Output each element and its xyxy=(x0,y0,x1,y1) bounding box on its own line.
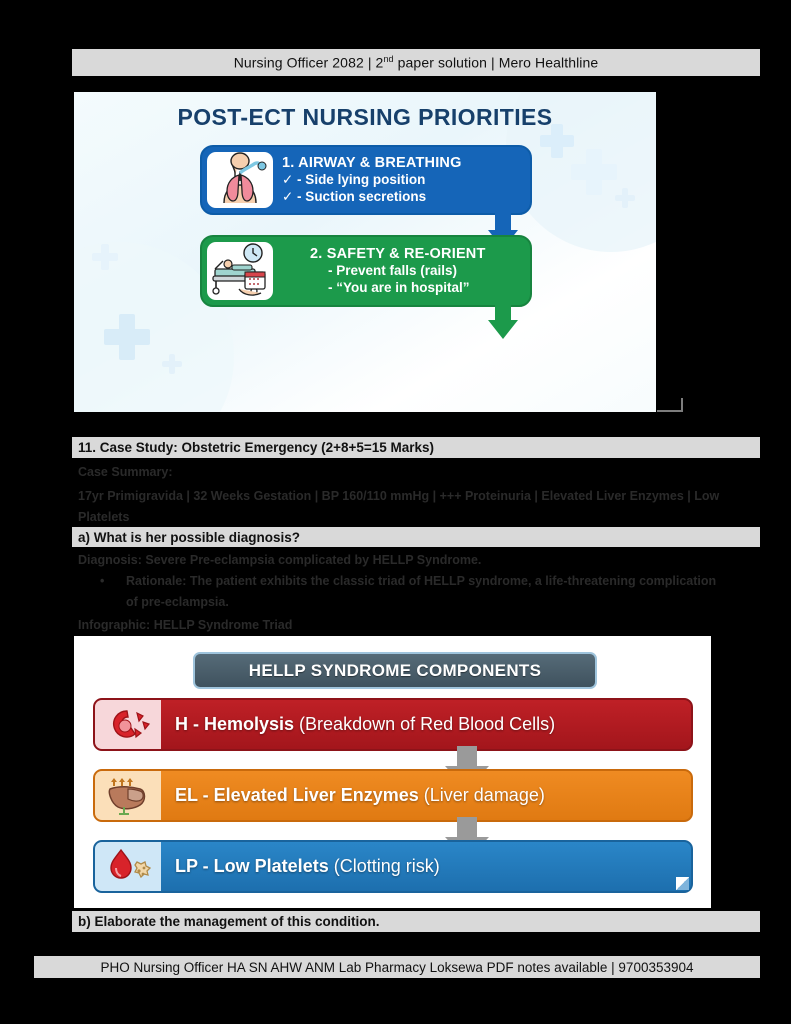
infographic-caption: Infographic: HELLP Syndrome Triad xyxy=(78,615,754,636)
question-11-heading-band: 11. Case Study: Obstetric Emergency (2+8… xyxy=(72,437,760,458)
plus-cross-icon xyxy=(92,244,118,270)
down-arrow-icon xyxy=(488,300,518,340)
plus-cross-icon xyxy=(571,149,617,195)
question-11b-heading-band: b) Elaborate the management of this cond… xyxy=(72,911,760,932)
header-title: Nursing Officer 2082 | 2nd paper solutio… xyxy=(234,54,599,71)
hellp-row-2-label: EL - Elevated Liver Enzymes (Liver damag… xyxy=(161,785,691,806)
priority-card-2-line-2: - “You are in hospital” xyxy=(280,280,525,296)
image-resize-handle[interactable] xyxy=(657,398,683,412)
footer-text: PHO Nursing Officer HA SN AHW ANM Lab Ph… xyxy=(100,960,693,975)
lungs-airway-icon xyxy=(207,152,273,208)
broken-red-blood-cell-icon xyxy=(95,700,161,749)
page-root: Nursing Officer 2082 | 2nd paper solutio… xyxy=(0,0,791,1024)
hellp-badge-title: HELLP SYNDROME COMPONENTS xyxy=(193,652,597,689)
priority-card-airway-breathing: 1. AIRWAY & BREATHING ✓ - Side lying pos… xyxy=(200,145,532,215)
priority-card-1-body: 1. AIRWAY & BREATHING ✓ - Side lying pos… xyxy=(280,155,525,206)
hellp-row-1-label: H - Hemolysis (Breakdown of Red Blood Ce… xyxy=(161,714,691,735)
rationale-list-item: • Rationale: The patient exhibits the cl… xyxy=(100,571,720,613)
hospital-bed-clock-calendar-icon xyxy=(207,242,273,300)
priority-card-2-body: 2. SAFETY & RE-ORIENT - Prevent falls (r… xyxy=(280,246,525,297)
case-summary-text: 17yr Primigravida | 32 Weeks Gestation |… xyxy=(78,486,754,528)
bullet-dot-icon: • xyxy=(100,571,104,592)
question-11a-heading: a) What is her possible diagnosis? xyxy=(78,530,300,545)
infographic-hellp-syndrome-components: HELLP SYNDROME COMPONENTS H - Hemolysis … xyxy=(74,636,711,908)
priority-card-1-line-1: ✓ - Side lying position xyxy=(282,172,525,188)
infographic-post-ect-nursing-priorities: POST-ECT NURSING PRIORITIES 1. AIRWAY & … xyxy=(74,92,656,412)
hellp-row-3-label: LP - Low Platelets (Clotting risk) xyxy=(161,856,691,877)
plus-cross-icon xyxy=(162,354,182,374)
hellp-row-elevated-liver-enzymes: EL - Elevated Liver Enzymes (Liver damag… xyxy=(93,769,693,822)
page-footer-band: PHO Nursing Officer HA SN AHW ANM Lab Ph… xyxy=(34,956,760,978)
question-11b-heading: b) Elaborate the management of this cond… xyxy=(78,914,380,929)
priority-card-2-heading: 2. SAFETY & RE-ORIENT xyxy=(280,246,525,264)
liver-up-arrows-icon xyxy=(95,771,161,820)
page-fold-corner xyxy=(676,877,689,890)
rationale-text: Rationale: The patient exhibits the clas… xyxy=(100,571,720,613)
priority-card-safety-reorient: 2. SAFETY & RE-ORIENT - Prevent falls (r… xyxy=(200,235,532,307)
page-header-band: Nursing Officer 2082 | 2nd paper solutio… xyxy=(72,49,760,76)
plus-cross-icon xyxy=(104,314,150,360)
question-11-heading: 11. Case Study: Obstetric Emergency (2+8… xyxy=(78,440,434,455)
diagnosis-line: Diagnosis: Severe Pre-eclampsia complica… xyxy=(78,550,754,571)
infographic1-title: POST-ECT NURSING PRIORITIES xyxy=(74,104,656,131)
case-summary-label: Case Summary: xyxy=(78,462,754,483)
priority-card-1-line-2: ✓ - Suction secretions xyxy=(282,189,525,205)
priority-card-2-line-1: - Prevent falls (rails) xyxy=(280,263,525,279)
priority-card-1-heading: 1. AIRWAY & BREATHING xyxy=(282,155,525,173)
blood-drop-platelet-icon xyxy=(95,842,161,891)
plus-cross-icon xyxy=(615,188,635,208)
hellp-row-hemolysis: H - Hemolysis (Breakdown of Red Blood Ce… xyxy=(93,698,693,751)
question-11a-heading-band: a) What is her possible diagnosis? xyxy=(72,527,760,547)
hellp-row-low-platelets: LP - Low Platelets (Clotting risk) xyxy=(93,840,693,893)
